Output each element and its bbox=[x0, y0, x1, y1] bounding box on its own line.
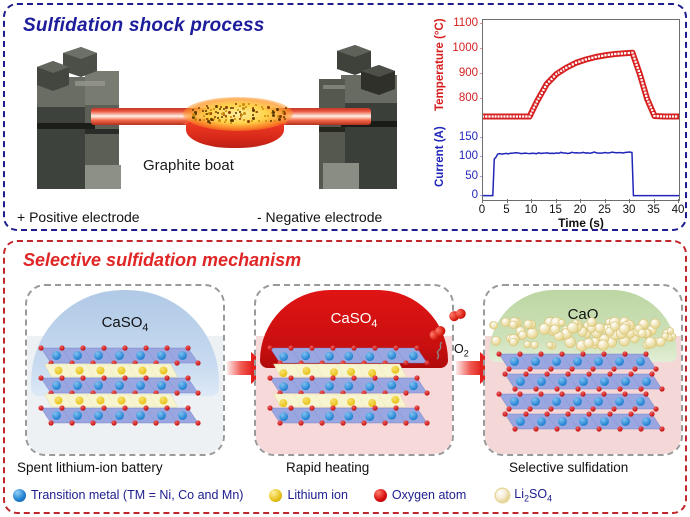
transition-metal-atom bbox=[52, 411, 61, 420]
chart-ytick-temperature: 800 bbox=[459, 92, 478, 104]
powder-speck bbox=[274, 120, 276, 122]
oxygen-atom bbox=[659, 386, 664, 391]
negative-electrode-label: - Negative electrode bbox=[257, 209, 382, 225]
oxygen-atom bbox=[554, 386, 559, 391]
transition-metal-atom bbox=[52, 351, 61, 360]
temperature-current-chart: Temperature (°C) Current (A) 80090010001… bbox=[435, 13, 687, 228]
powder-speck bbox=[252, 107, 254, 109]
transition-metal-atom bbox=[325, 412, 334, 421]
transition-metal-atom bbox=[516, 417, 525, 426]
lattice-slab bbox=[45, 364, 178, 377]
bottom-panel-title: Selective sulfidation mechanism bbox=[23, 250, 301, 271]
temperature-marker bbox=[594, 55, 597, 58]
transition-metal-atom bbox=[642, 417, 651, 426]
oxygen-atom bbox=[309, 345, 314, 350]
chart-xtick: 5 bbox=[503, 204, 509, 216]
li2so4-particle bbox=[501, 318, 510, 327]
oxygen-atom bbox=[643, 391, 648, 396]
powder-speck bbox=[235, 103, 237, 105]
powder-speck bbox=[213, 108, 215, 110]
powder-speck bbox=[262, 108, 264, 110]
transition-metal-atom bbox=[94, 351, 103, 360]
oxygen-atom bbox=[590, 366, 595, 371]
oxygen-atom bbox=[502, 371, 507, 376]
legend-item-label: Li2SO4 bbox=[514, 487, 552, 504]
lithium-ion bbox=[279, 369, 287, 377]
oxygen-atom bbox=[111, 420, 116, 425]
stage1-caption: Spent lithium-ion battery bbox=[17, 460, 163, 475]
oxygen-atom bbox=[414, 375, 419, 380]
powder-speck bbox=[230, 122, 232, 124]
transition-metal-atom bbox=[325, 382, 334, 391]
oxygen-atom bbox=[628, 411, 633, 416]
li2so4-particle bbox=[490, 322, 498, 330]
lithium-ion bbox=[97, 367, 105, 375]
oxygen-atom bbox=[559, 391, 564, 396]
temperature-marker bbox=[575, 61, 578, 64]
oxygen-atom bbox=[393, 405, 398, 410]
o2-label: O2 bbox=[454, 342, 469, 359]
lithium-ion bbox=[279, 399, 287, 407]
li2so4-particle bbox=[567, 322, 578, 333]
oxygen-atom bbox=[80, 405, 85, 410]
transition-metal-atom bbox=[387, 381, 396, 390]
oxygen-atom bbox=[523, 411, 528, 416]
oxygen-atom bbox=[580, 391, 585, 396]
transition-metal-atom bbox=[136, 351, 145, 360]
li2so4-particle bbox=[619, 324, 630, 335]
stage2-caption: Rapid heating bbox=[286, 460, 369, 475]
chart-tick-mark bbox=[556, 199, 557, 203]
transition-metal-atom bbox=[409, 351, 418, 360]
transition-metal-atom bbox=[157, 351, 166, 360]
powder-speck bbox=[265, 120, 267, 122]
powder-speck bbox=[248, 103, 250, 105]
oxygen-atom bbox=[622, 351, 627, 356]
powder-speck bbox=[235, 112, 237, 114]
oxygen-atom bbox=[632, 406, 637, 411]
powder-speck bbox=[239, 118, 241, 120]
temperature-marker bbox=[568, 64, 571, 67]
stage-spent-battery: CaSO4 bbox=[25, 284, 225, 456]
powder-speck bbox=[258, 120, 260, 122]
li2so4-particle bbox=[547, 342, 553, 348]
oxygen-atom bbox=[653, 366, 658, 371]
chart-tick-mark bbox=[629, 199, 630, 203]
oxygen-atom bbox=[59, 375, 64, 380]
powder-speck bbox=[252, 114, 254, 116]
legend-item-oxygen-atom: Oxygen atom bbox=[374, 488, 466, 502]
oxygen-atom bbox=[586, 371, 591, 376]
temperature-marker bbox=[610, 53, 613, 56]
current-curve bbox=[483, 152, 679, 196]
oxygen-atom bbox=[174, 390, 179, 395]
lattice-slab bbox=[45, 394, 178, 407]
temperature-marker bbox=[571, 63, 574, 66]
legend-item-label: Lithium ion bbox=[287, 488, 347, 502]
powder-speck bbox=[239, 105, 241, 107]
chart-ytick-current: 50 bbox=[465, 170, 478, 182]
powder-speck bbox=[264, 115, 266, 117]
oxygen-atom bbox=[653, 406, 658, 411]
lithium-ion bbox=[160, 397, 168, 405]
oxygen-atom bbox=[174, 420, 179, 425]
lithium-ion bbox=[76, 397, 84, 405]
chart-ytick-current: 0 bbox=[472, 189, 478, 201]
temperature-marker bbox=[601, 54, 604, 57]
transition-metal-atom bbox=[409, 411, 418, 420]
chart-ytick-temperature: 1100 bbox=[453, 17, 478, 29]
oxygen-atom bbox=[601, 351, 606, 356]
transition-metal-atom bbox=[301, 411, 310, 420]
legend-item-label: Oxygen atom bbox=[392, 488, 466, 502]
oxygen-atom bbox=[523, 371, 528, 376]
arrow1-shaft bbox=[227, 361, 253, 375]
transition-metal-atom bbox=[387, 411, 396, 420]
chart-ytick-temperature: 900 bbox=[459, 67, 478, 79]
powder-speck bbox=[218, 119, 221, 122]
lattice-slab bbox=[274, 364, 407, 377]
oxygen-atom bbox=[496, 351, 501, 356]
transition-metal-atom bbox=[115, 381, 124, 390]
transition-metal-atom bbox=[531, 357, 540, 366]
powder-speck bbox=[252, 117, 255, 120]
powder-speck bbox=[228, 111, 231, 114]
sulfidation-shock-photo: Graphite boat bbox=[23, 45, 428, 205]
lithium-ion bbox=[76, 367, 84, 375]
temperature-marker bbox=[588, 57, 591, 60]
oxygen-atom bbox=[351, 405, 356, 410]
oxygen-atom bbox=[382, 420, 387, 425]
oxygen-atom bbox=[643, 351, 648, 356]
stage3-caption: Selective sulfidation bbox=[509, 460, 628, 475]
temperature-marker bbox=[607, 53, 610, 56]
li2so4-particle bbox=[527, 328, 538, 339]
powder-speck bbox=[255, 104, 257, 106]
legend-item-label: Transition metal (TM = Ni, Co and Mn) bbox=[31, 488, 243, 502]
chart-x-axis-label: Time (s) bbox=[482, 216, 680, 230]
li2so4-particle bbox=[667, 328, 674, 335]
oxygen-atom bbox=[512, 426, 517, 431]
powder-speck bbox=[276, 108, 279, 111]
oxygen-atom bbox=[569, 406, 574, 411]
oxygen-atom bbox=[122, 405, 127, 410]
o2-release-group: O2 bbox=[421, 308, 483, 366]
transition-metal-atom bbox=[73, 381, 82, 390]
temperature-marker bbox=[604, 54, 607, 57]
oxygen-atom bbox=[580, 351, 585, 356]
transition-metal-atom bbox=[365, 352, 374, 361]
powder-speckles bbox=[191, 103, 287, 123]
powder-speck bbox=[209, 122, 211, 124]
oxygen-atom bbox=[361, 420, 366, 425]
chart-tick-mark bbox=[531, 199, 532, 203]
temperature-marker bbox=[656, 115, 659, 118]
oxygen-atom bbox=[414, 405, 419, 410]
temperature-marker bbox=[617, 52, 620, 55]
transition-metal-atom bbox=[301, 381, 310, 390]
oxygen-atom bbox=[403, 360, 408, 365]
powder-speck bbox=[217, 117, 219, 119]
li2so4-particle bbox=[492, 336, 501, 345]
oxygen-atom bbox=[90, 420, 95, 425]
transition-metal-atom bbox=[600, 417, 609, 426]
lithium-ion bbox=[391, 396, 399, 404]
transition-metal-atom bbox=[579, 417, 588, 426]
oxygen-atom bbox=[195, 360, 200, 365]
oxygen-atom bbox=[622, 391, 627, 396]
oxygen-atom bbox=[164, 345, 169, 350]
lithium-ion bbox=[160, 367, 168, 375]
oxygen-atom bbox=[506, 366, 511, 371]
oxygen-atom bbox=[69, 420, 74, 425]
li2so4-particle bbox=[524, 320, 533, 329]
chart-xtick: 20 bbox=[574, 204, 587, 216]
oxygen-atom bbox=[185, 375, 190, 380]
transition-metal-atom bbox=[516, 377, 525, 386]
temperature-marker bbox=[565, 66, 568, 69]
powder-speck bbox=[267, 106, 270, 109]
selective-sulfidation-panel: Selective sulfidation mechanism CaSO4 Ca… bbox=[3, 240, 687, 514]
powder-speck bbox=[199, 119, 201, 121]
oxygen-atom bbox=[424, 420, 429, 425]
transition-metal-atom bbox=[279, 382, 288, 391]
powder-speck bbox=[225, 106, 228, 109]
li2so4-particle bbox=[638, 329, 647, 338]
oxygen-atom bbox=[164, 375, 169, 380]
oxygen-atom bbox=[288, 345, 293, 350]
oxygen-atom bbox=[548, 366, 553, 371]
oxygen-atom bbox=[533, 426, 538, 431]
oxygen-atom bbox=[101, 405, 106, 410]
li2so4-particle bbox=[610, 322, 619, 331]
oxygen-atom bbox=[403, 390, 408, 395]
figure-legend: Transition metal (TM = Ni, Co and Mn)Lit… bbox=[13, 484, 681, 506]
oxygen-atom bbox=[538, 391, 543, 396]
chart-xtick: 30 bbox=[623, 204, 636, 216]
chart-curves bbox=[483, 20, 679, 200]
oxygen-atom bbox=[617, 386, 622, 391]
oxygen-atom bbox=[372, 375, 377, 380]
chart-ytick-temperature: 1000 bbox=[452, 42, 478, 54]
oxygen-atom bbox=[596, 426, 601, 431]
powder-speck bbox=[210, 109, 212, 111]
oxygen-atom bbox=[267, 375, 272, 380]
transition-metal-atom bbox=[344, 352, 353, 361]
oxygen-atom bbox=[185, 345, 190, 350]
li2so4-particle bbox=[519, 331, 527, 339]
powder-speck bbox=[233, 115, 235, 117]
transition-metal-atom bbox=[94, 381, 103, 390]
temperature-marker bbox=[624, 52, 627, 55]
oxygen-atom bbox=[351, 345, 356, 350]
lithium-ion bbox=[118, 367, 126, 375]
oxygen-atom bbox=[267, 345, 272, 350]
oxygen-atom bbox=[632, 366, 637, 371]
oxygen-atom bbox=[538, 351, 543, 356]
oxygen-atom bbox=[80, 345, 85, 350]
oxygen-atom bbox=[288, 375, 293, 380]
oxygen-atom bbox=[611, 406, 616, 411]
powder-speck bbox=[251, 120, 253, 122]
chart-y-tick-labels: 80090010001100050100150 bbox=[435, 13, 480, 201]
chart-xtick: 40 bbox=[672, 204, 685, 216]
chart-xtick: 25 bbox=[598, 204, 611, 216]
oxygen-atom bbox=[607, 371, 612, 376]
lithium-ion-swatch-icon bbox=[269, 489, 282, 502]
temperature-marker bbox=[597, 55, 600, 58]
transition-metal-atom bbox=[301, 351, 310, 360]
oxygen-atom bbox=[533, 386, 538, 391]
sulfidation-shock-panel: Sulfidation shock process bbox=[3, 3, 687, 231]
transition-metal-atom bbox=[621, 417, 630, 426]
oxygen-atom bbox=[80, 375, 85, 380]
li2so4-particle bbox=[509, 321, 517, 329]
oxygen-atom bbox=[288, 405, 293, 410]
powder-speck bbox=[217, 112, 219, 114]
oxygen-atom bbox=[517, 351, 522, 356]
legend-item-lithium-ion: Lithium ion bbox=[269, 488, 347, 502]
oxygen-atom bbox=[174, 360, 179, 365]
lithium-ion bbox=[303, 397, 311, 405]
chart-tick-mark bbox=[678, 199, 679, 203]
transition-metal-atom bbox=[558, 417, 567, 426]
stage1-layered-lattice bbox=[27, 286, 223, 454]
temperature-marker bbox=[488, 115, 491, 118]
transition-metal-atom bbox=[344, 382, 353, 391]
oxygen-atom bbox=[267, 405, 272, 410]
stage3-layered-lattice bbox=[485, 286, 681, 454]
chart-tick-mark bbox=[482, 199, 483, 203]
chart-tick-mark bbox=[654, 199, 655, 203]
oxygen-atom bbox=[565, 411, 570, 416]
li2so4-particle bbox=[539, 323, 550, 334]
oxygen-atom bbox=[48, 420, 53, 425]
oxygen-atom bbox=[611, 366, 616, 371]
powder-speck bbox=[247, 120, 250, 123]
oxygen-atom-swatch-icon bbox=[374, 489, 387, 502]
li2so4-particle bbox=[595, 323, 605, 333]
transition-metal-atom bbox=[594, 357, 603, 366]
transition-metal-atom bbox=[594, 397, 603, 406]
oxygen-atom bbox=[527, 406, 532, 411]
chart-ytick-current: 100 bbox=[459, 150, 478, 162]
temperature-marker bbox=[620, 52, 623, 55]
transition-metal-atom bbox=[136, 381, 145, 390]
transition-metal-atom bbox=[73, 351, 82, 360]
powder-speck bbox=[202, 110, 204, 112]
transition-metal-atom bbox=[344, 412, 353, 421]
transition-metal-atom bbox=[157, 411, 166, 420]
lithium-ion bbox=[97, 397, 105, 405]
oxygen-atom bbox=[617, 426, 622, 431]
lithium-ion bbox=[139, 367, 147, 375]
powder-speck bbox=[198, 107, 200, 109]
transition-metal-atom bbox=[325, 352, 334, 361]
lithium-ion bbox=[347, 368, 355, 376]
lithium-ion bbox=[347, 398, 355, 406]
oxygen-atom bbox=[330, 375, 335, 380]
oxygen-atom bbox=[101, 345, 106, 350]
powder-speck bbox=[243, 112, 246, 115]
powder-speck bbox=[230, 107, 232, 109]
transition-metal-atom bbox=[115, 351, 124, 360]
transition-metal-atom bbox=[115, 411, 124, 420]
powder-speck bbox=[270, 120, 272, 122]
lithium-ion bbox=[55, 397, 63, 405]
oxygen-atom bbox=[143, 405, 148, 410]
transition-metal-atom bbox=[531, 397, 540, 406]
oxygen-atom bbox=[628, 371, 633, 376]
li2so4-particle bbox=[656, 337, 665, 346]
lithium-ion bbox=[330, 398, 338, 406]
temperature-marker bbox=[578, 60, 581, 63]
chart-xtick: 35 bbox=[647, 204, 660, 216]
oxygen-atom bbox=[372, 345, 377, 350]
powder-speck bbox=[278, 118, 281, 121]
transition-metal-atom bbox=[615, 397, 624, 406]
li2so4-particle bbox=[584, 338, 594, 348]
oxygen-atom bbox=[596, 386, 601, 391]
transition-metal-atom bbox=[573, 357, 582, 366]
oxygen-atom bbox=[502, 411, 507, 416]
oxygen-atom bbox=[59, 345, 64, 350]
oxygen-atom bbox=[393, 375, 398, 380]
powder-speck bbox=[194, 118, 197, 121]
li2so4-particle bbox=[531, 341, 538, 348]
transition-metal-atom bbox=[387, 351, 396, 360]
oxygen-atom bbox=[143, 345, 148, 350]
transition-metal-atom bbox=[178, 411, 187, 420]
oxygen-atom bbox=[517, 391, 522, 396]
transition-metal-atom bbox=[636, 397, 645, 406]
oxygen-atom bbox=[548, 406, 553, 411]
lithium-ion bbox=[139, 397, 147, 405]
powder-speck bbox=[214, 116, 216, 118]
li2so4-particle bbox=[587, 318, 596, 327]
oxygen-atom bbox=[601, 391, 606, 396]
oxygen-atom bbox=[309, 375, 314, 380]
oxygen-atom bbox=[607, 411, 612, 416]
oxygen-atom bbox=[101, 375, 106, 380]
transition-metal-atom bbox=[552, 357, 561, 366]
oxygen-atom bbox=[38, 375, 43, 380]
oxygen-atom bbox=[586, 411, 591, 416]
oxygen-atom bbox=[512, 386, 517, 391]
chart-xtick: 0 bbox=[479, 204, 485, 216]
li2so4-particle bbox=[598, 340, 609, 351]
oxygen-atom bbox=[164, 405, 169, 410]
oxygen-atom bbox=[143, 375, 148, 380]
temperature-marker bbox=[653, 114, 656, 117]
oxygen-atom bbox=[340, 420, 345, 425]
temperature-marker bbox=[659, 115, 662, 118]
transition-metal-atom bbox=[73, 411, 82, 420]
oxygen-atom bbox=[638, 426, 643, 431]
stage-selective-sulfidation: CaO bbox=[483, 284, 683, 456]
oxygen-atom bbox=[122, 375, 127, 380]
powder-speck bbox=[240, 113, 242, 115]
powder-speck bbox=[279, 115, 282, 118]
lattice-slab bbox=[274, 394, 407, 407]
li2so4-particle bbox=[650, 319, 660, 329]
transition-metal-atom bbox=[558, 377, 567, 386]
chart-tick-mark bbox=[580, 199, 581, 203]
powder-speck bbox=[284, 118, 286, 120]
oxygen-atom bbox=[330, 405, 335, 410]
chart-xtick: 15 bbox=[549, 204, 562, 216]
oxygen-atom bbox=[122, 345, 127, 350]
